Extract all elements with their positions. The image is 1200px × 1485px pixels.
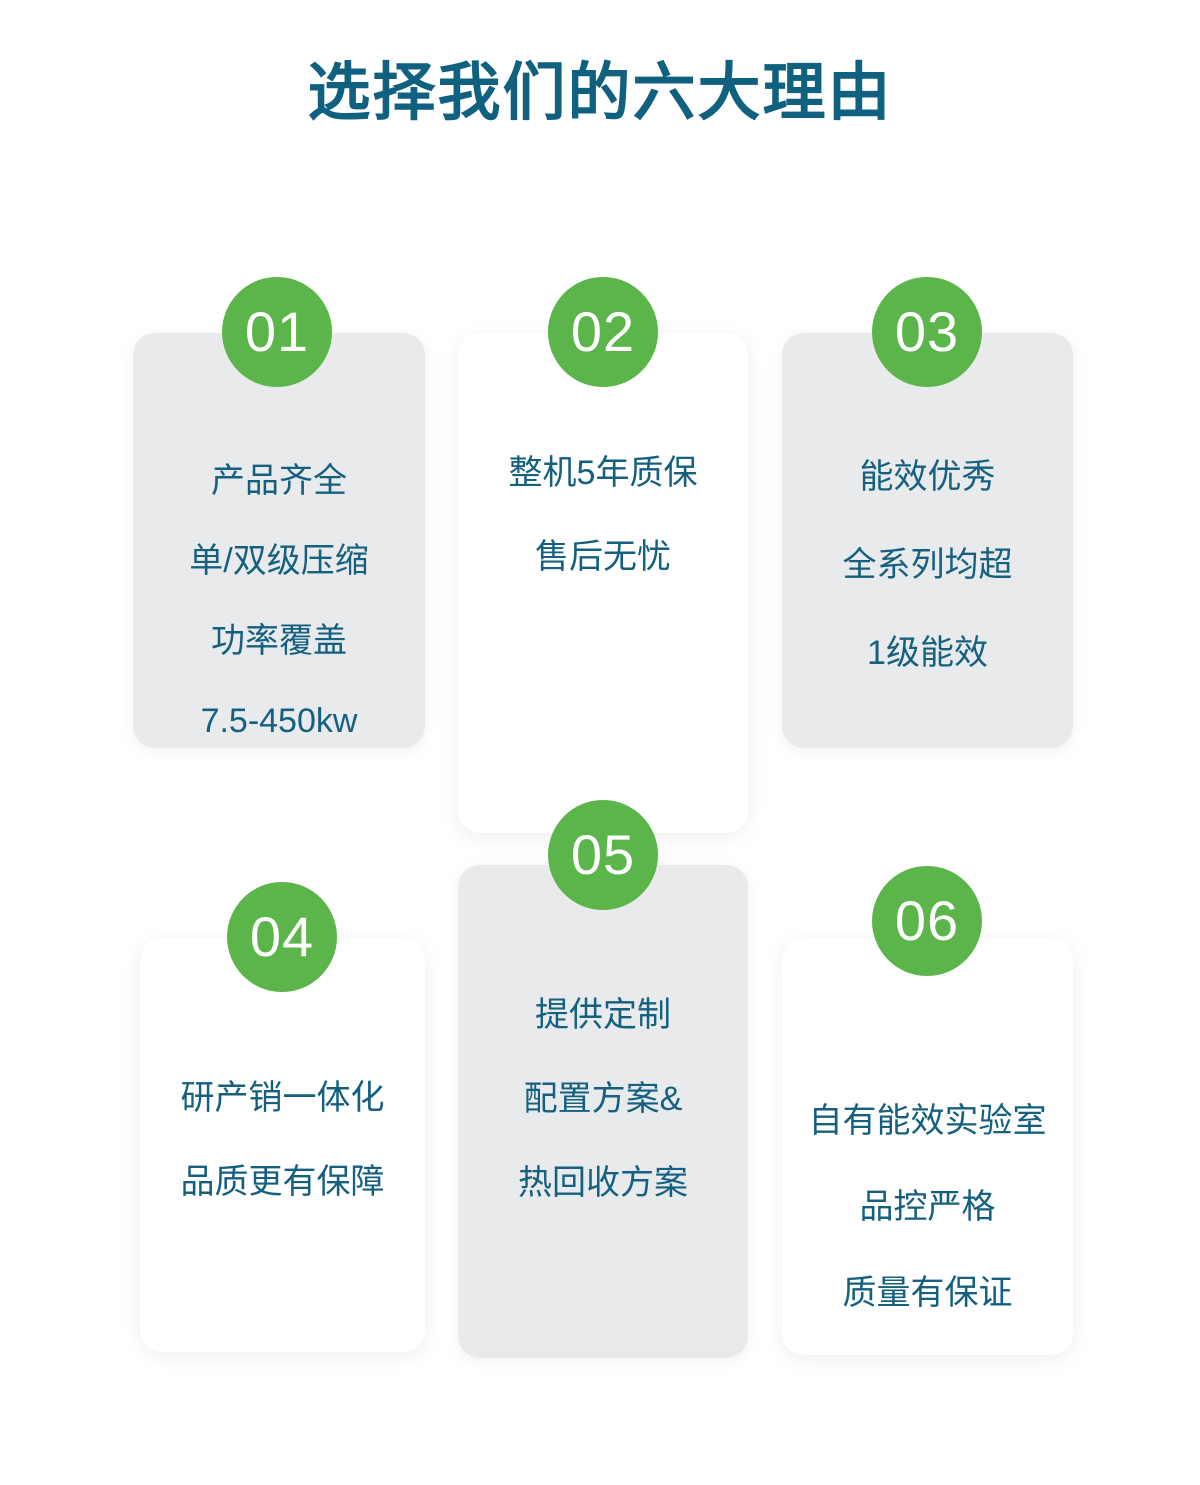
card-text-line: 1级能效: [782, 609, 1073, 697]
reason-card-01-text: 产品齐全 单/双级压缩 功率覆盖 7.5-450kw: [133, 441, 425, 761]
card-text-line: 自有能效实验室: [782, 1078, 1073, 1164]
reason-card-01: 产品齐全 单/双级压缩 功率覆盖 7.5-450kw: [133, 333, 425, 748]
reason-badge-04: 04: [227, 882, 337, 992]
card-text-line: 售后无忧: [458, 515, 748, 599]
card-text-line: 产品齐全: [133, 441, 425, 521]
card-text-line: 质量有保证: [782, 1250, 1073, 1336]
page-title: 选择我们的六大理由: [0, 56, 1200, 132]
reason-badge-02: 02: [548, 277, 658, 387]
card-text-line: 品控严格: [782, 1164, 1073, 1250]
card-text-line: 品质更有保障: [140, 1140, 425, 1224]
reason-card-03-text: 能效优秀 全系列均超 1级能效: [782, 433, 1073, 697]
reason-card-06: 自有能效实验室 品控严格 质量有保证: [782, 938, 1073, 1355]
reason-card-04: 研产销一体化 品质更有保障: [140, 938, 425, 1352]
infographic-page: 选择我们的六大理由 产品齐全 单/双级压缩 功率覆盖 7.5-450kw 01 …: [0, 0, 1200, 1485]
reason-badge-03: 03: [872, 277, 982, 387]
card-text-line: 整机5年质保: [458, 431, 748, 515]
reason-badge-05: 05: [548, 800, 658, 910]
reason-badge-06: 06: [872, 866, 982, 976]
card-text-line: 单/双级压缩: [133, 521, 425, 601]
card-text-line: 配置方案&: [458, 1057, 748, 1141]
reason-badge-01: 01: [222, 277, 332, 387]
card-text-line: 热回收方案: [458, 1141, 748, 1225]
card-text-line: 7.5-450kw: [133, 681, 425, 761]
reason-card-05-text: 提供定制 配置方案& 热回收方案: [458, 973, 748, 1225]
card-text-line: 研产销一体化: [140, 1056, 425, 1140]
card-text-line: 功率覆盖: [133, 601, 425, 681]
card-text-line: 全系列均超: [782, 521, 1073, 609]
reason-card-05: 提供定制 配置方案& 热回收方案: [458, 865, 748, 1358]
reason-card-06-text: 自有能效实验室 品控严格 质量有保证: [782, 1078, 1073, 1336]
reason-card-02-text: 整机5年质保 售后无忧: [458, 431, 748, 599]
reason-card-03: 能效优秀 全系列均超 1级能效: [782, 333, 1073, 748]
reason-card-02: 整机5年质保 售后无忧: [458, 333, 748, 833]
reason-card-04-text: 研产销一体化 品质更有保障: [140, 1056, 425, 1224]
card-text-line: 提供定制: [458, 973, 748, 1057]
card-text-line: 能效优秀: [782, 433, 1073, 521]
